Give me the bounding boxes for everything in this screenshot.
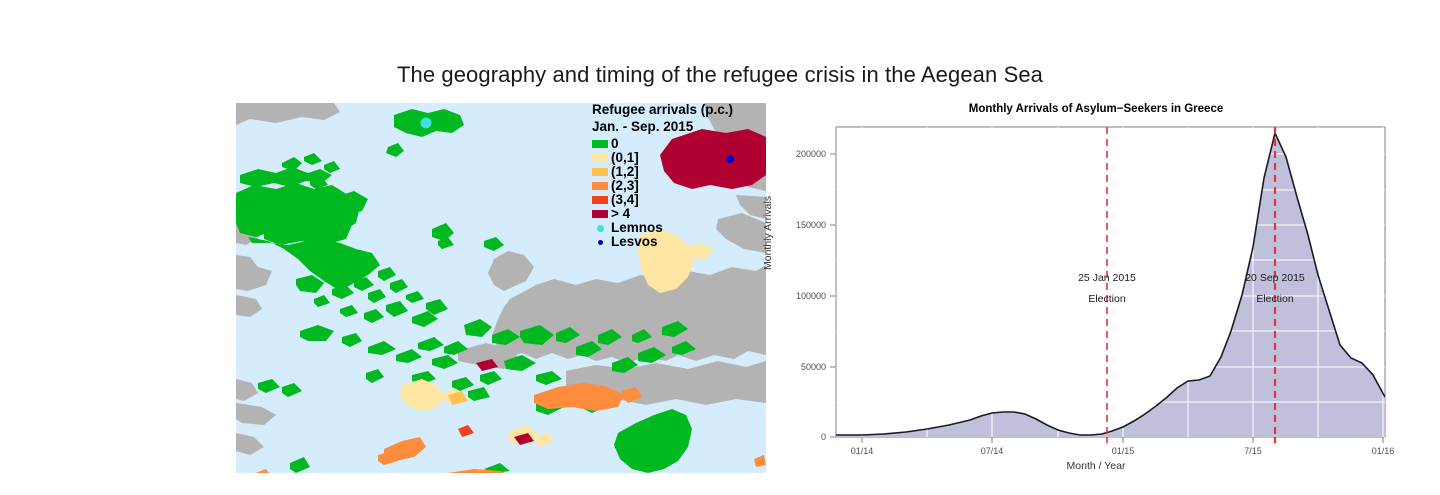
legend-label-3: (2,3] <box>611 179 639 193</box>
legend-item-1[interactable]: (0,1] <box>592 151 733 165</box>
area-chart-graphic: 0 50000 100000 150000 200000 01/14 07/14… <box>766 95 1426 485</box>
x-tick-0: 01/14 <box>851 446 874 456</box>
legend-title: Refugee arrivals (p.c.) <box>592 103 733 117</box>
legend-subtitle: Jan. - Sep. 2015 <box>592 120 733 134</box>
map-legend: Refugee arrivals (p.c.) Jan. - Sep. 2015… <box>592 103 733 249</box>
x-tick-4: 01/16 <box>1372 446 1395 456</box>
x-tick-2: 01/15 <box>1112 446 1135 456</box>
annotation-1-line1: 25 Jan 2015 <box>1078 272 1136 284</box>
x-tick-1: 07/14 <box>981 446 1004 456</box>
y-tick-1: 50000 <box>801 362 826 372</box>
y-axis-ticks: 0 50000 100000 150000 200000 <box>796 149 836 442</box>
legend-swatch-2 <box>592 168 608 176</box>
legend-swatch-4 <box>592 196 608 204</box>
legend-item-4[interactable]: (3,4] <box>592 193 733 207</box>
legend-label-lesvos: Lesvos <box>611 235 658 249</box>
area-fill <box>836 133 1385 437</box>
legend-item-lemnos[interactable]: Lemnos <box>592 221 733 235</box>
y-tick-2: 100000 <box>796 291 826 301</box>
legend-item-3[interactable]: (2,3] <box>592 179 733 193</box>
legend-item-5[interactable]: > 4 <box>592 207 733 221</box>
x-axis-ticks: 01/14 07/14 01/15 7/15 01/16 <box>851 437 1395 456</box>
y-tick-3: 150000 <box>796 220 826 230</box>
x-tick-3: 7/15 <box>1244 446 1262 456</box>
page-title: The geography and timing of the refugee … <box>0 62 1440 88</box>
annotation-2-line2: Election <box>1256 293 1294 305</box>
figure-canvas: The geography and timing of the refugee … <box>0 0 1440 495</box>
legend-label-2: (1,2] <box>611 165 639 179</box>
legend-swatch-1 <box>592 154 608 162</box>
legend-item-lesvos[interactable]: Lesvos <box>592 235 733 249</box>
legend-swatch-0 <box>592 140 608 148</box>
annotation-1-line2: Election <box>1088 293 1126 305</box>
legend-swatch-3 <box>592 182 608 190</box>
legend-label-4: (3,4] <box>611 193 639 207</box>
chart-panel[interactable]: Monthly Arrivals of Asylum−Seekers in Gr… <box>766 95 1426 485</box>
legend-item-0[interactable]: 0 <box>592 137 733 151</box>
legend-label-lemnos: Lemnos <box>611 221 663 235</box>
lemnos-point-marker <box>421 118 432 129</box>
legend-label-0: 0 <box>611 137 619 151</box>
legend-swatch-5 <box>592 210 608 218</box>
y-tick-4: 200000 <box>796 149 826 159</box>
lesvos-marker-icon <box>592 236 608 248</box>
legend-label-5: > 4 <box>611 207 630 221</box>
legend-item-2[interactable]: (1,2] <box>592 165 733 179</box>
lemnos-marker-icon <box>592 222 608 234</box>
legend-label-1: (0,1] <box>611 151 639 165</box>
annotation-2-line1: 20 Sep 2015 <box>1245 272 1305 284</box>
y-tick-0: 0 <box>821 432 826 442</box>
